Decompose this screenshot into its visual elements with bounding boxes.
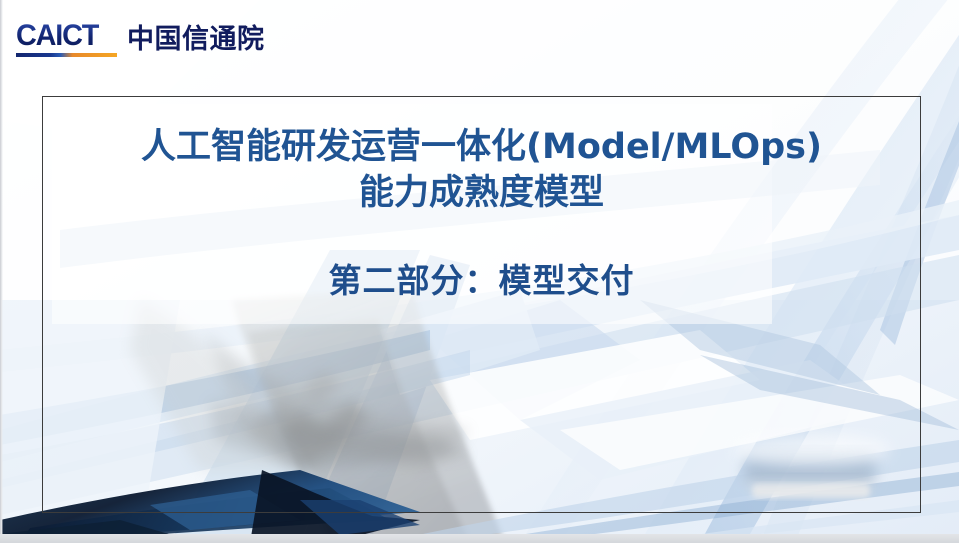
page-title: 人工智能研发运营一体化(Model/MLOps) 能力成熟度模型 <box>141 124 822 216</box>
caict-logo-chinese-name: 中国信通院 <box>127 25 265 57</box>
page-edge-bottom <box>0 534 959 543</box>
page-title-line1: 人工智能研发运营一体化(Model/MLOps) <box>141 127 822 167</box>
caict-logo-text: CAICT <box>16 21 113 51</box>
page-edge-left <box>0 0 3 543</box>
caict-logo-underline <box>16 53 117 57</box>
caict-wordmark: CAICT <box>16 21 117 57</box>
page-subtitle: 第二部分：模型交付 <box>329 260 635 302</box>
slide-canvas: CAICT 中国信通院 人工智能研发运营一体化(Model/MLOps) 能力成… <box>0 0 959 543</box>
caict-logo: CAICT 中国信通院 <box>16 21 265 57</box>
page-title-line2: 能力成熟度模型 <box>141 170 822 216</box>
title-block: 人工智能研发运营一体化(Model/MLOps) 能力成熟度模型 第二部分：模型… <box>42 96 921 513</box>
